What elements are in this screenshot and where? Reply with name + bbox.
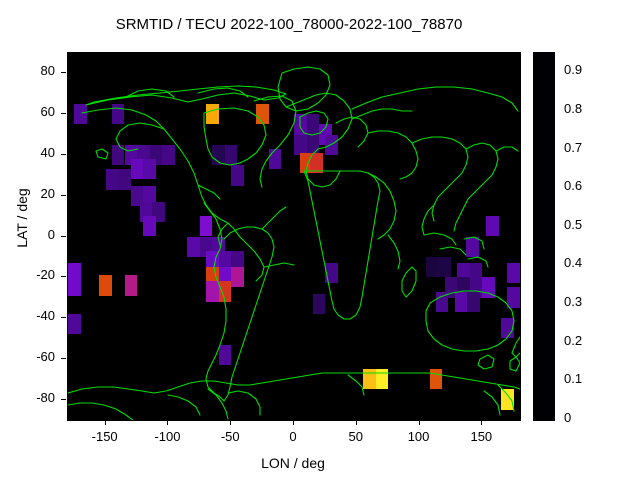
colorbar-tick-label: 0.9 bbox=[564, 62, 582, 77]
plot-area bbox=[67, 52, 521, 421]
coastline-overlay bbox=[68, 53, 520, 420]
figure-canvas: SRMTID / TECU 2022-100_78000-2022-100_78… bbox=[0, 0, 640, 480]
colorbar-tick bbox=[533, 419, 538, 420]
y-axis-tick bbox=[61, 154, 66, 155]
y-axis-tick-label: -60 bbox=[15, 349, 55, 364]
colorbar-tick bbox=[533, 380, 538, 381]
x-axis-tick bbox=[167, 420, 168, 425]
colorbar-tick bbox=[533, 187, 538, 188]
colorbar-tick bbox=[533, 342, 538, 343]
y-axis-tick bbox=[61, 236, 66, 237]
colorbar-tick bbox=[533, 303, 538, 304]
x-axis-tick-label: -150 bbox=[75, 429, 135, 444]
colorbar-tick bbox=[549, 187, 554, 188]
colorbar-tick bbox=[549, 71, 554, 72]
y-axis-tick bbox=[61, 276, 66, 277]
x-axis-tick bbox=[105, 420, 106, 425]
x-axis-tick-label: 100 bbox=[389, 429, 449, 444]
colorbar-tick-label: 0.2 bbox=[564, 333, 582, 348]
colorbar-tick bbox=[533, 149, 538, 150]
colorbar-tick bbox=[549, 303, 554, 304]
colorbar-tick bbox=[549, 342, 554, 343]
colorbar-tick-label: 0.4 bbox=[564, 255, 582, 270]
y-axis-tick bbox=[61, 358, 66, 359]
colorbar-tick-label: 0.5 bbox=[564, 217, 582, 232]
colorbar-tick-label: 0.8 bbox=[564, 101, 582, 116]
y-axis-tick-label: 60 bbox=[15, 104, 55, 119]
y-axis-tick bbox=[61, 195, 66, 196]
colorbar-tick-label: 0 bbox=[564, 410, 571, 425]
colorbar bbox=[533, 52, 555, 421]
x-axis-label: LON / deg bbox=[67, 455, 519, 471]
colorbar-tick bbox=[533, 110, 538, 111]
colorbar-tick bbox=[549, 380, 554, 381]
x-axis-tick-label: -100 bbox=[137, 429, 197, 444]
colorbar-tick-label: 0.6 bbox=[564, 178, 582, 193]
colorbar-tick-label: 0.7 bbox=[564, 140, 582, 155]
colorbar-tick-label: 0.1 bbox=[564, 371, 582, 386]
map-canvas bbox=[68, 53, 520, 420]
colorbar-tick bbox=[549, 226, 554, 227]
x-axis-tick-label: 50 bbox=[326, 429, 386, 444]
y-axis-tick bbox=[61, 317, 66, 318]
x-axis-tick-label: -50 bbox=[200, 429, 260, 444]
colorbar-tick bbox=[549, 149, 554, 150]
y-axis-label: LAT / deg bbox=[14, 158, 30, 278]
x-axis-tick bbox=[293, 420, 294, 425]
colorbar-tick bbox=[549, 264, 554, 265]
page-title: SRMTID / TECU 2022-100_78000-2022-100_78… bbox=[0, 16, 578, 33]
colorbar-gradient bbox=[534, 53, 554, 420]
y-axis-tick-label: -80 bbox=[15, 390, 55, 405]
y-axis-tick-label: -40 bbox=[15, 308, 55, 323]
x-axis-tick bbox=[230, 420, 231, 425]
colorbar-tick bbox=[549, 110, 554, 111]
colorbar-tick bbox=[533, 264, 538, 265]
y-axis-tick bbox=[61, 113, 66, 114]
colorbar-tick bbox=[533, 71, 538, 72]
colorbar-tick bbox=[533, 226, 538, 227]
x-axis-tick-label: 0 bbox=[263, 429, 323, 444]
colorbar-tick bbox=[549, 419, 554, 420]
y-axis-tick bbox=[61, 399, 66, 400]
y-axis-tick-label: 80 bbox=[15, 63, 55, 78]
y-axis-tick bbox=[61, 72, 66, 73]
x-axis-tick bbox=[356, 420, 357, 425]
x-axis-tick-label: 150 bbox=[451, 429, 511, 444]
x-axis-tick bbox=[419, 420, 420, 425]
colorbar-tick-label: 0.3 bbox=[564, 294, 582, 309]
x-axis-tick bbox=[481, 420, 482, 425]
